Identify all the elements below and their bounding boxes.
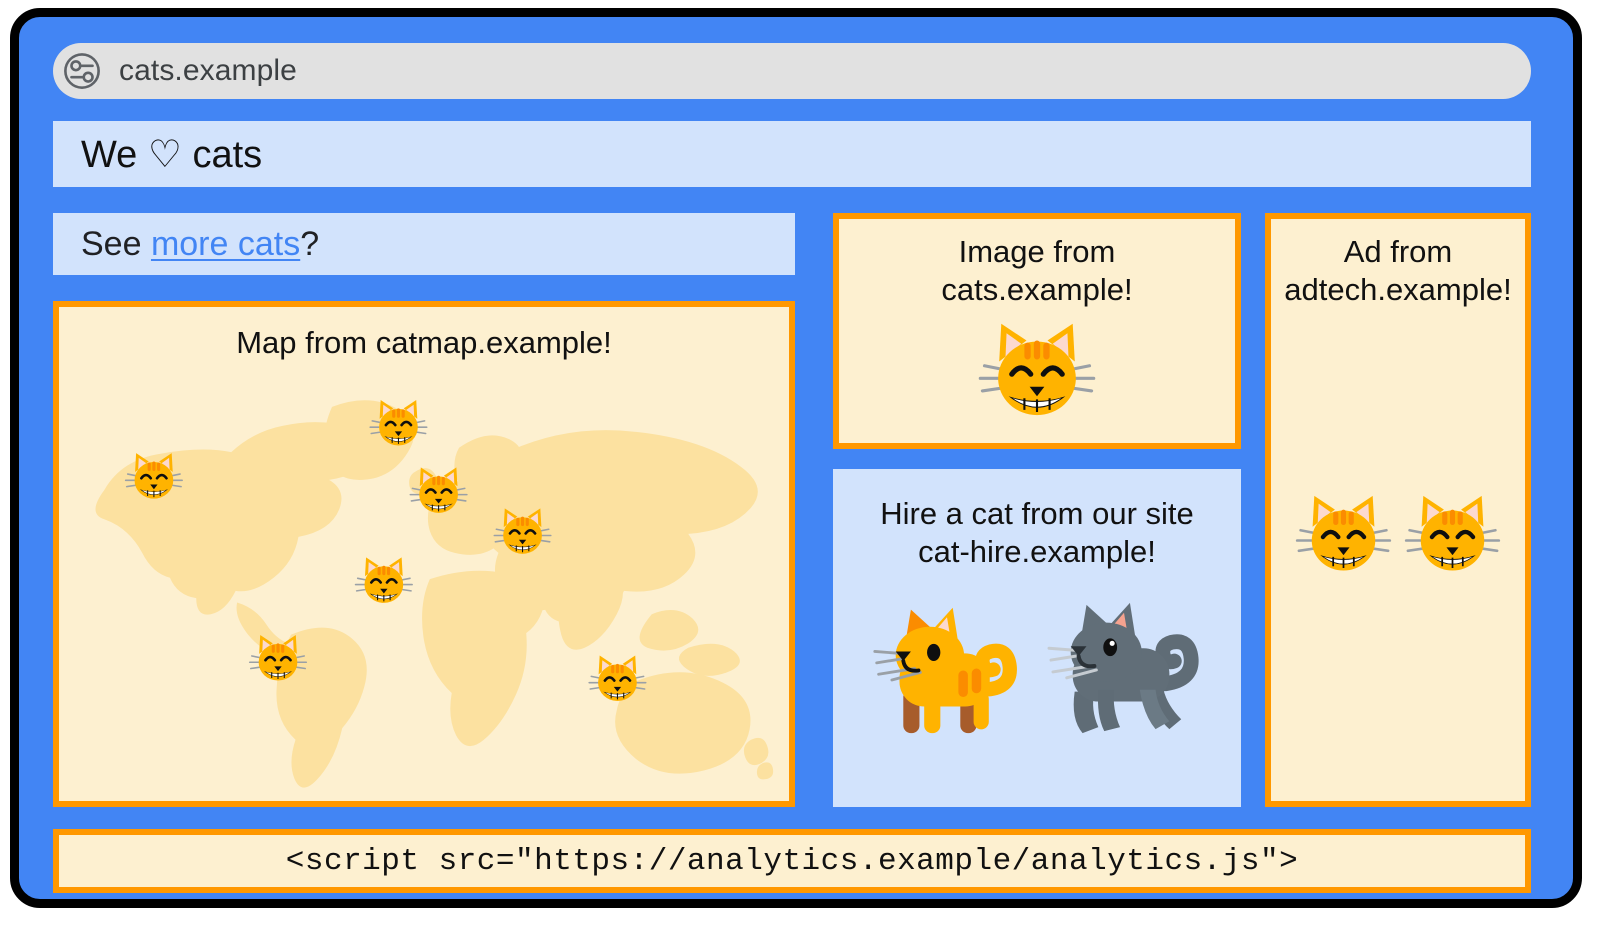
hire-panel-caption-line2: cat-hire.example! bbox=[880, 533, 1194, 571]
ad-panel-caption-line2: adtech.example! bbox=[1284, 271, 1511, 309]
map-marker-africa-west[interactable] bbox=[356, 557, 413, 603]
browser-window: cats.example We ♡ cats See more cats? Ma… bbox=[10, 8, 1582, 908]
world-landmass bbox=[96, 400, 774, 787]
more-cats-link[interactable]: more cats bbox=[151, 225, 300, 263]
grinning-cat-face-icon bbox=[1292, 487, 1395, 582]
hire-panel: Hire a cat from our site cat-hire.exampl… bbox=[833, 469, 1241, 807]
link-prefix: See bbox=[81, 225, 151, 263]
grey-cat-body-icon bbox=[1045, 593, 1203, 741]
script-footer-panel: <script src="https://analytics.example/a… bbox=[53, 829, 1531, 893]
ad-panel[interactable]: Ad from adtech.example! bbox=[1265, 213, 1531, 807]
map-panel-title: Map from catmap.example! bbox=[59, 325, 789, 361]
grinning-cat-face-icon bbox=[1401, 487, 1504, 582]
image-panel: Image from cats.example! bbox=[833, 213, 1241, 449]
url-text[interactable]: cats.example bbox=[119, 54, 297, 88]
grinning-cat-face-icon bbox=[974, 313, 1100, 429]
hire-panel-caption-line1: Hire a cat from our site bbox=[880, 495, 1194, 533]
link-line: See more cats? bbox=[81, 225, 319, 264]
headline-banner: We ♡ cats bbox=[53, 121, 1531, 187]
ad-panel-caption-line1: Ad from bbox=[1284, 233, 1511, 271]
url-bar[interactable]: cats.example bbox=[53, 43, 1531, 99]
hire-panel-caption: Hire a cat from our site cat-hire.exampl… bbox=[880, 495, 1194, 571]
image-panel-caption-line1: Image from bbox=[941, 233, 1132, 271]
see-more-cats-banner: See more cats? bbox=[53, 213, 795, 275]
hire-panel-art bbox=[871, 593, 1203, 741]
link-suffix: ? bbox=[300, 225, 319, 263]
page-title: We ♡ cats bbox=[81, 132, 262, 177]
ad-panel-caption: Ad from adtech.example! bbox=[1284, 233, 1511, 309]
ad-panel-art bbox=[1271, 487, 1525, 582]
image-panel-caption-line2: cats.example! bbox=[941, 271, 1132, 309]
world-map-svg bbox=[59, 369, 789, 801]
map-canvas[interactable] bbox=[59, 369, 789, 801]
map-panel[interactable]: Map from catmap.example! bbox=[53, 301, 795, 807]
orange-cat-body-icon bbox=[871, 598, 1023, 741]
image-panel-caption: Image from cats.example! bbox=[941, 233, 1132, 309]
tune-icon[interactable] bbox=[61, 50, 103, 92]
script-tag-text: <script src="https://analytics.example/a… bbox=[286, 844, 1298, 879]
